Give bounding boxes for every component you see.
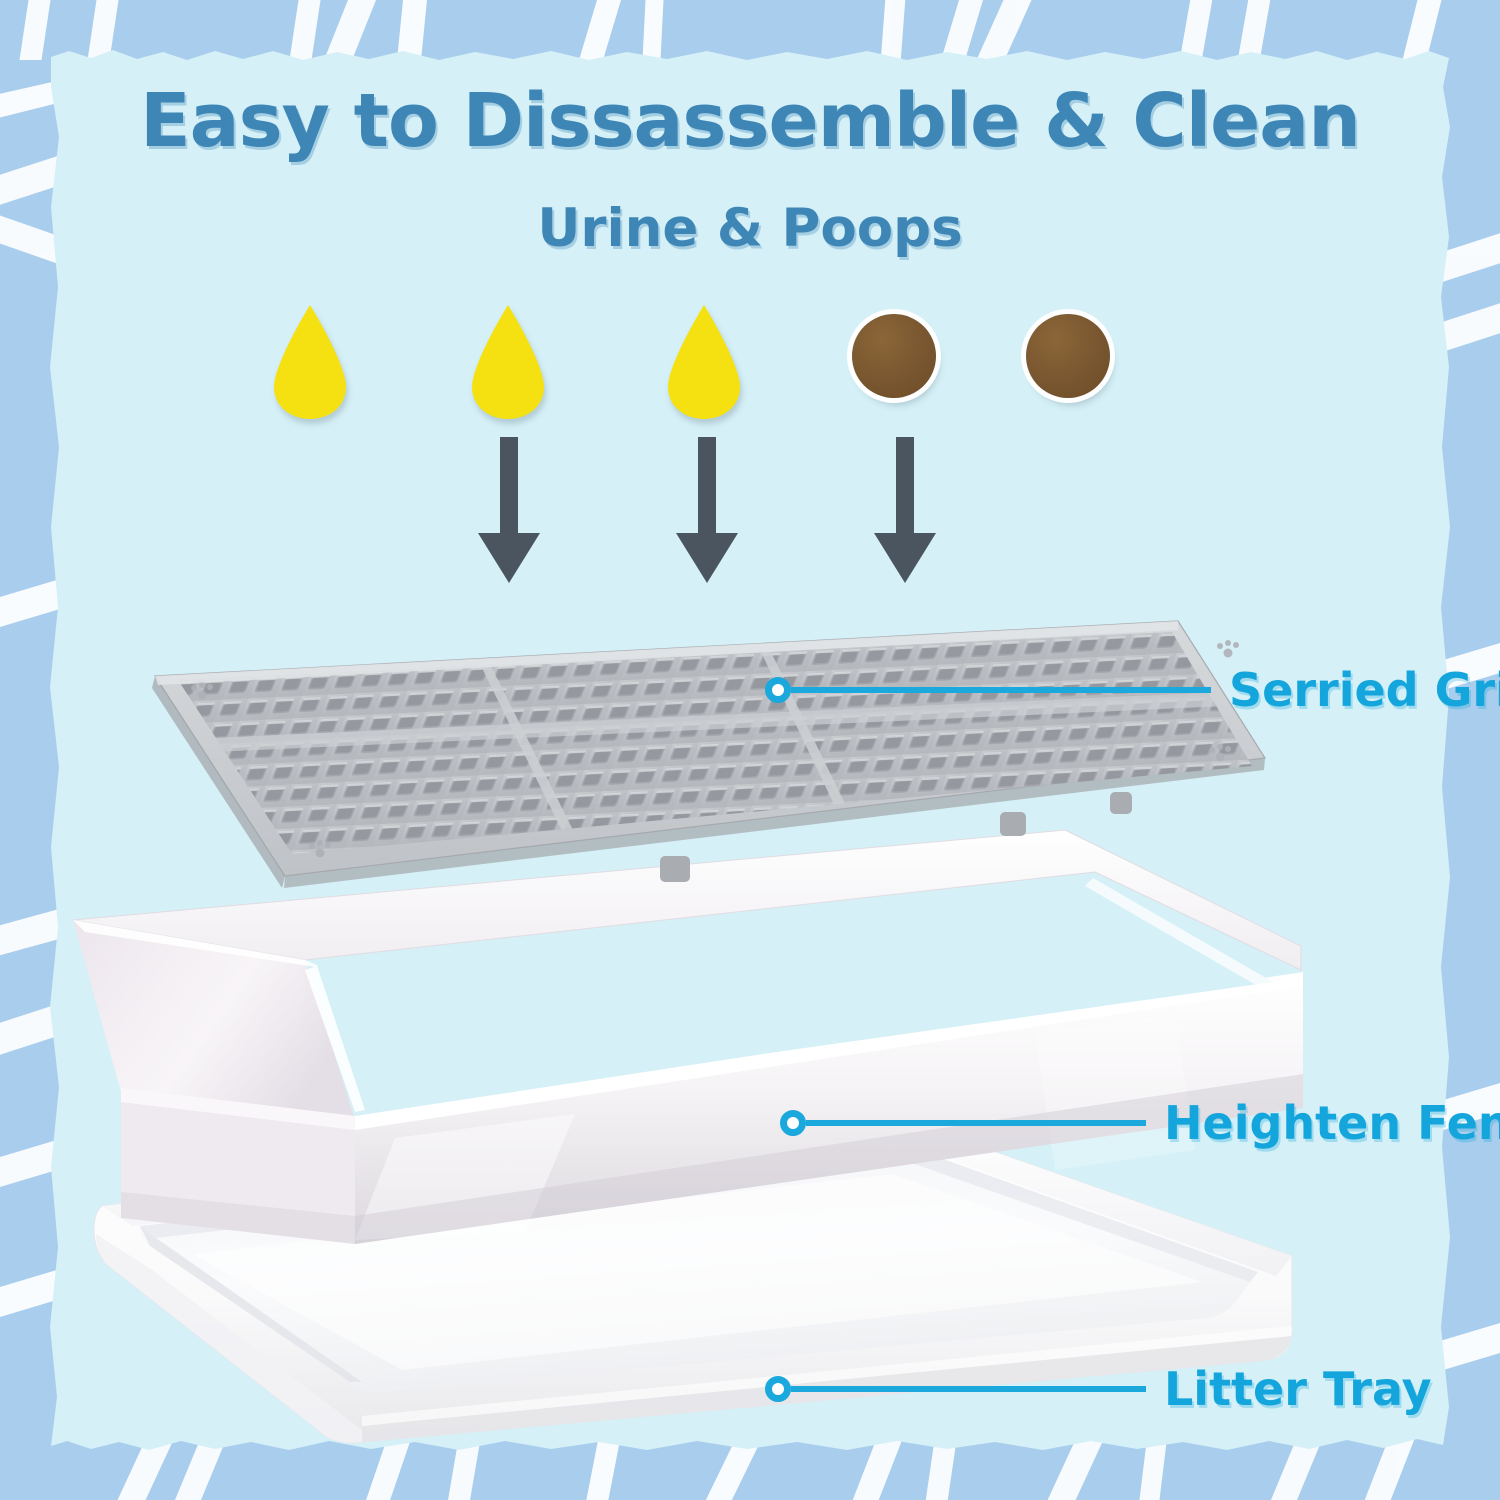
callout-dot-icon xyxy=(765,677,791,703)
callout-label-heighten-fence: Heighten Fence xyxy=(1164,1096,1500,1150)
urine-drop-icon-3 xyxy=(662,303,746,421)
callout-leader-line xyxy=(791,1386,1146,1392)
urine-drop-icon-1 xyxy=(268,303,352,421)
poop-pellet-icon-2 xyxy=(1026,314,1110,398)
down-arrow-icon-3 xyxy=(866,437,944,585)
part-serried-grid[interactable] xyxy=(60,588,1290,908)
callout-dot-icon xyxy=(780,1110,806,1136)
callout-leader-line xyxy=(806,1120,1146,1126)
poop-pellet-icon-1 xyxy=(852,314,936,398)
down-arrow-icon-2 xyxy=(668,437,746,585)
callout-heighten-fence[interactable]: Heighten Fence xyxy=(780,1096,1500,1150)
callout-label-litter-tray: Litter Tray xyxy=(1164,1362,1432,1416)
page-title: Easy to Dissassemble & Clean xyxy=(0,78,1500,164)
subtitle: Urine & Poops xyxy=(0,198,1500,259)
callout-serried-grid[interactable]: Serried Grid xyxy=(765,663,1500,717)
callout-dot-icon xyxy=(765,1376,791,1402)
callout-label-serried-grid: Serried Grid xyxy=(1229,663,1500,717)
callout-litter-tray[interactable]: Litter Tray xyxy=(765,1362,1432,1416)
infographic-canvas: Easy to Dissassemble & Clean Urine & Poo… xyxy=(0,0,1500,1500)
urine-drop-icon-2 xyxy=(466,303,550,421)
callout-leader-line xyxy=(791,687,1211,693)
down-arrow-icon-1 xyxy=(470,437,548,585)
